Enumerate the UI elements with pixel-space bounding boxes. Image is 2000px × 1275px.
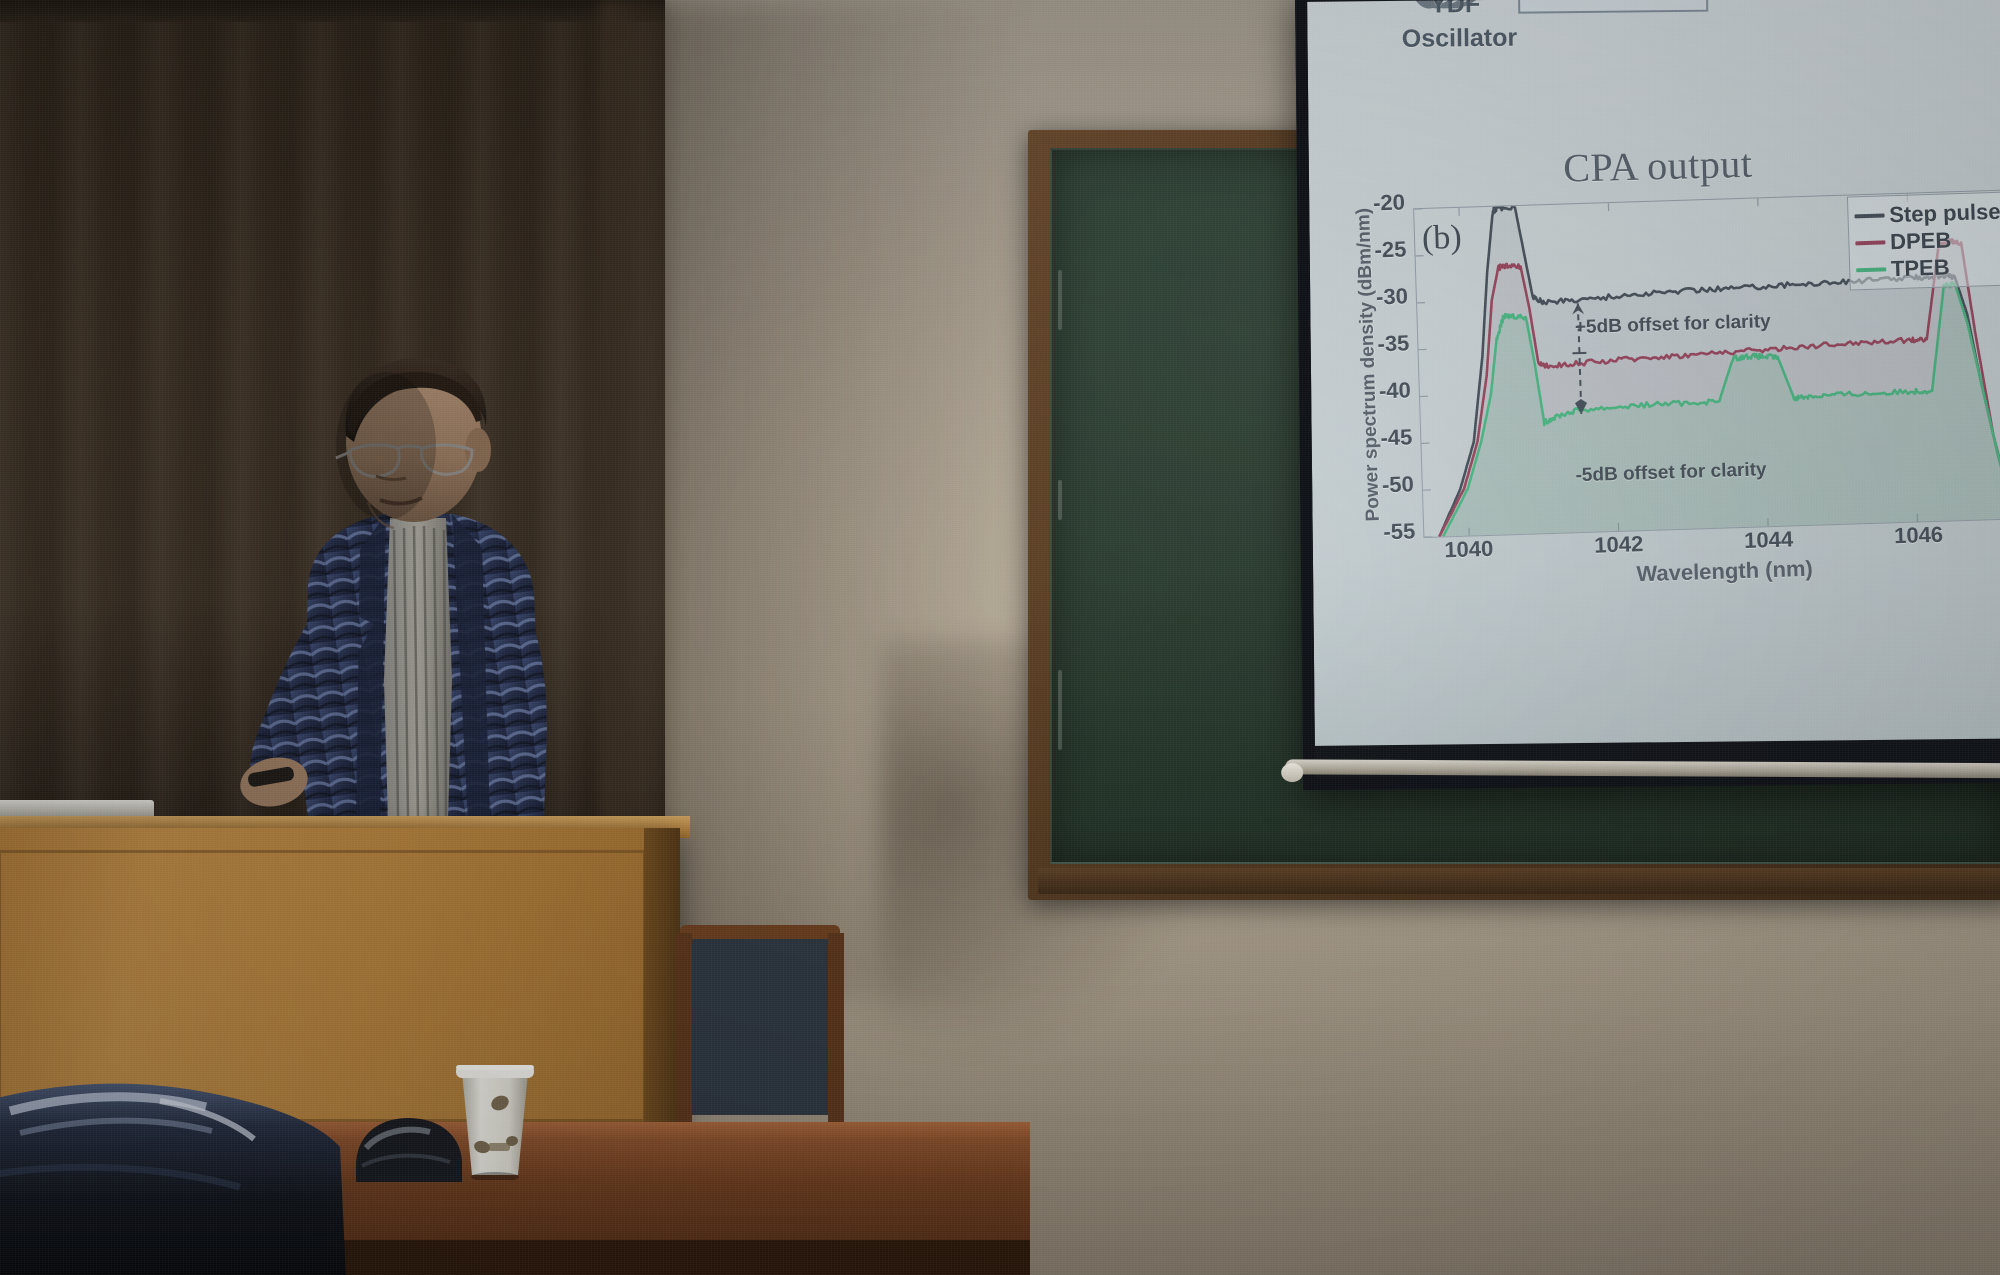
- cup-logo-band: [488, 1143, 510, 1151]
- paper-cup: [452, 1055, 538, 1180]
- screen-rod-cap: [1281, 763, 1303, 782]
- screen-border: [1295, 0, 2000, 790]
- curtain-rail: [0, 0, 665, 22]
- chair-top-rail: [680, 925, 840, 941]
- chalk-ledge: [1038, 868, 2000, 894]
- chalk-smudge: [1058, 480, 1062, 520]
- cup-rim-highlight: [456, 1065, 534, 1070]
- chair-right-post: [828, 933, 844, 1133]
- chair-backrest: [688, 939, 832, 1115]
- lecture-room-photo: YDF Oscillator Waveshaper: [0, 0, 2000, 1275]
- projector-screen: YDF Oscillator Waveshaper: [1295, 0, 2000, 790]
- jacket-body: [0, 1084, 346, 1275]
- face-shadow: [336, 372, 436, 520]
- cup-body: [462, 1073, 528, 1175]
- chair-left-post: [676, 933, 692, 1133]
- chalk-smudge: [1058, 670, 1062, 750]
- presenter: [190, 350, 670, 830]
- chalk-smudge: [1058, 270, 1062, 330]
